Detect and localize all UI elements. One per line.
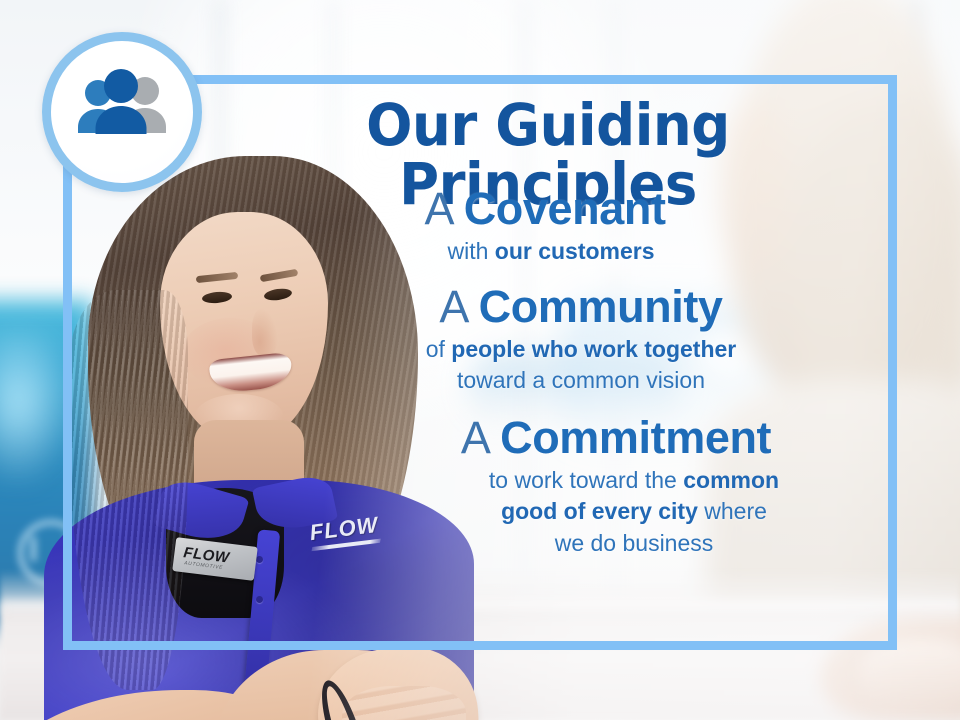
subtext-line: toward a common vision (300, 365, 862, 396)
principle-subtext: of people who work together toward a com… (300, 334, 862, 397)
subtext-line: good of every city where (382, 496, 886, 527)
principle-keyword: Community (479, 281, 723, 332)
subtext-segment-bold: good of every city (501, 498, 698, 524)
guiding-principles-banner: FLOW AUTOMOTIVE FLOW (0, 0, 960, 720)
principle-commitment: A Commitment to work toward the common g… (300, 413, 886, 559)
subtext-line: of people who work together (300, 334, 862, 365)
principles-list: A Covenant with our customers A Communit… (300, 184, 886, 569)
subtext-segment-bold: common (683, 467, 779, 493)
principle-article: A (439, 281, 478, 332)
principle-community: A Community of people who work together … (300, 282, 886, 397)
subtext-segment: of (426, 336, 452, 362)
principle-article: A (424, 183, 463, 234)
principle-title: A Commitment (346, 413, 886, 463)
subtext-line: we do business (382, 528, 886, 559)
principle-subtext: to work toward the common good of every … (346, 465, 886, 559)
principle-title: A Covenant (300, 184, 790, 234)
subtext-line: to work toward the common (382, 465, 886, 496)
subtext-segment: to work toward the (489, 467, 683, 493)
people-group-icon-badge (42, 32, 202, 192)
customer-hand-highlight (860, 640, 960, 710)
subtext-segment-bold: people who work together (451, 336, 736, 362)
subtext-segment: where (698, 498, 767, 524)
principle-covenant: A Covenant with our customers (300, 184, 886, 268)
principle-keyword: Commitment (500, 412, 771, 463)
subtext-segment: with (447, 238, 494, 264)
principle-keyword: Covenant (464, 183, 666, 234)
principle-title: A Community (300, 282, 862, 332)
principle-article: A (461, 412, 500, 463)
employee-fingers (342, 686, 466, 720)
people-group-icon (73, 69, 171, 148)
subtext-segment-bold: our customers (495, 238, 655, 264)
principle-subtext: with our customers (300, 236, 790, 267)
